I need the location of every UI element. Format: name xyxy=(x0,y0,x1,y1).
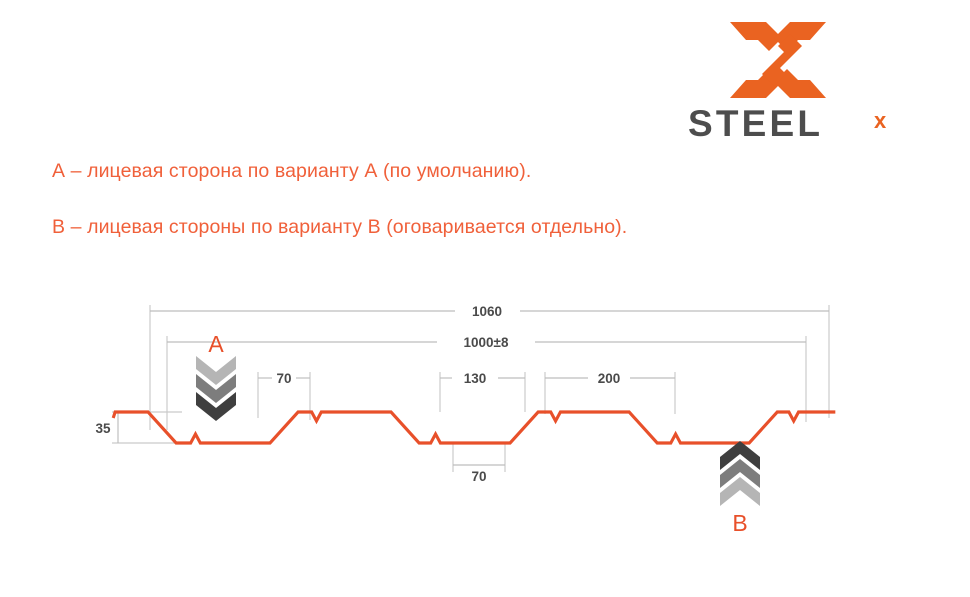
side-a-marker: A xyxy=(196,331,236,421)
dimension-label-crest-70: 70 xyxy=(276,371,291,386)
profile-technical-drawing: 1060 1000±8 70 130 200 70 35 A B xyxy=(0,0,970,597)
chevron-down-icon xyxy=(196,356,236,421)
dimension-label-valley-70: 70 xyxy=(471,469,486,484)
dimension-label-1060: 1060 xyxy=(472,304,502,319)
dimension-label-1000: 1000±8 xyxy=(464,335,509,350)
dimension-label-130: 130 xyxy=(464,371,487,386)
chevron-up-icon xyxy=(720,441,760,506)
dimension-label-height-35: 35 xyxy=(95,421,111,436)
side-a-marker-label: A xyxy=(208,331,224,357)
side-b-marker-label: B xyxy=(732,510,747,536)
side-b-marker: B xyxy=(720,441,760,536)
sheet-profile-outline xyxy=(113,412,835,443)
dimension-labels: 1060 1000±8 70 130 200 70 35 xyxy=(95,304,620,484)
dimension-label-200: 200 xyxy=(598,371,621,386)
